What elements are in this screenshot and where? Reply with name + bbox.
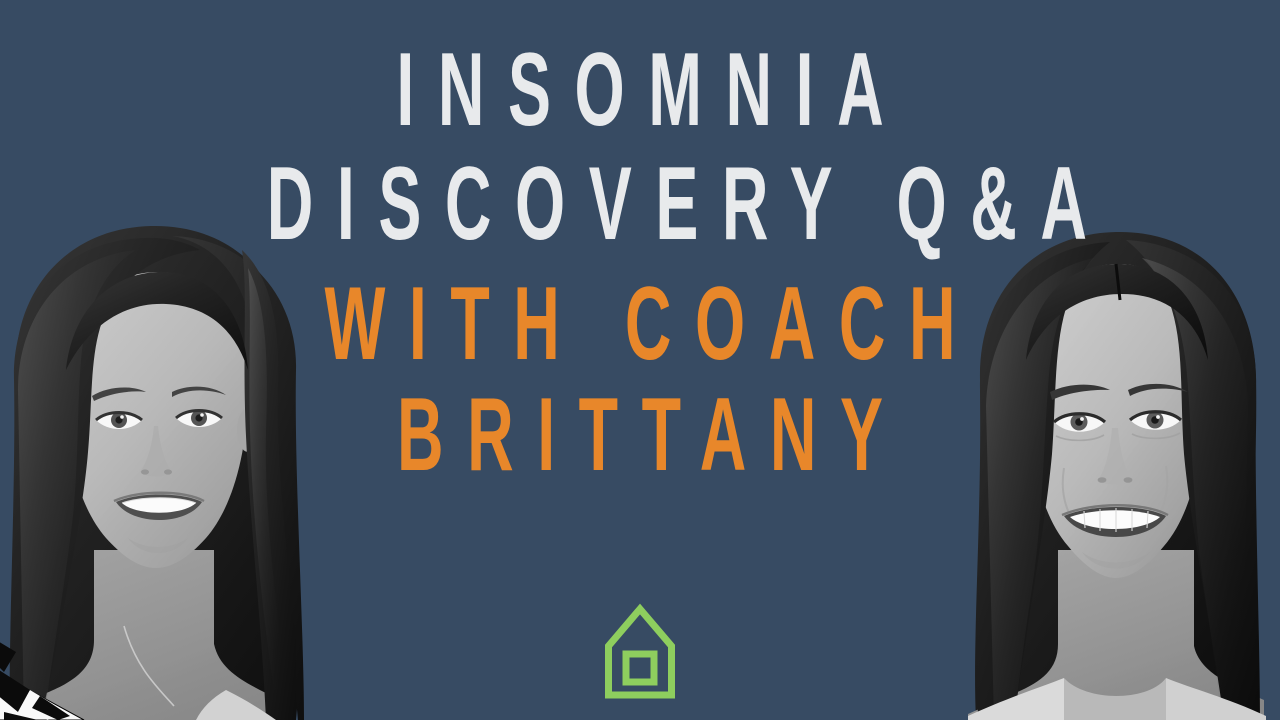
title-line-discovery: DISCOVERY Q&A bbox=[243, 148, 1037, 260]
title-line-insomnia: INSOMNIA bbox=[243, 32, 1037, 148]
title-line-with-coach: WITH COACH bbox=[243, 268, 1037, 380]
title-block: INSOMNIA DISCOVERY Q&A WITH COACH BRITTA… bbox=[0, 32, 1280, 490]
video-thumbnail: INSOMNIA DISCOVERY Q&A WITH COACH BRITTA… bbox=[0, 0, 1280, 720]
house-inner-square-icon bbox=[626, 654, 654, 682]
house-logo bbox=[604, 602, 676, 702]
title-line-brittany: BRITTANY bbox=[243, 380, 1037, 490]
